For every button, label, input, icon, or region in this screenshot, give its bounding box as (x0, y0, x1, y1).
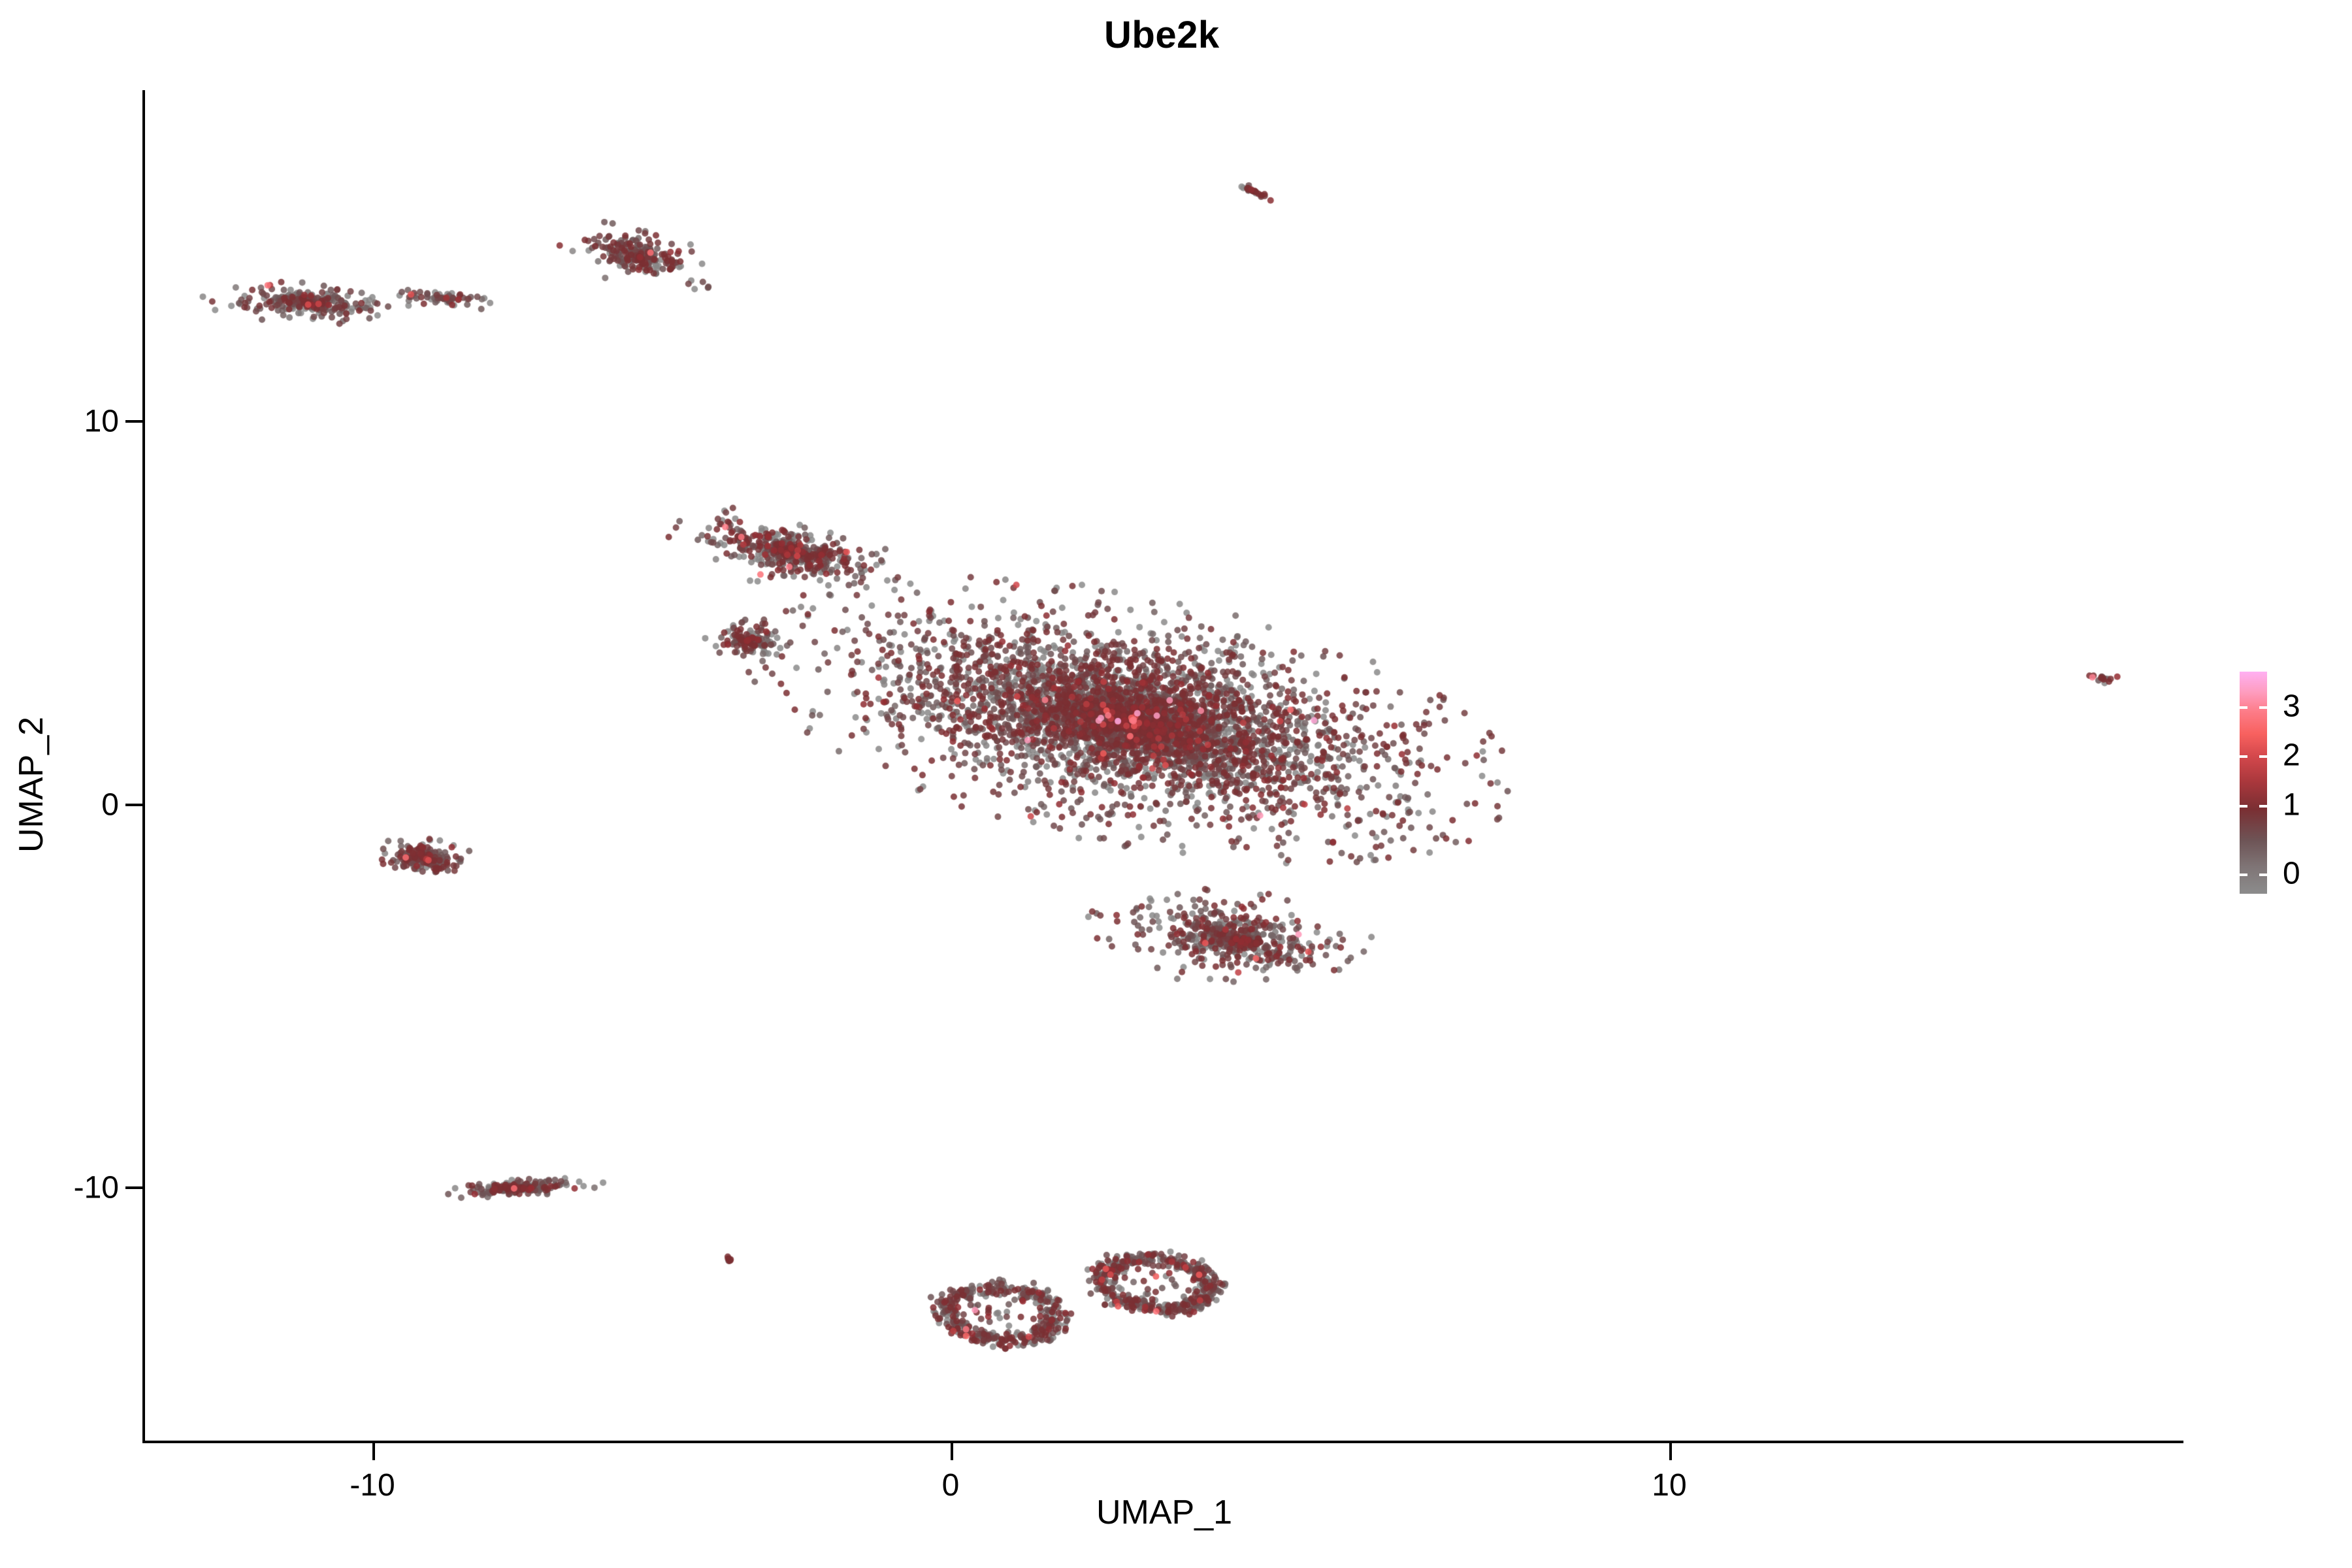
y-tick-mark (125, 420, 142, 423)
y-tick-label: -10 (74, 1170, 119, 1206)
page-title: Ube2k (1104, 13, 1220, 57)
legend-gradient-bar (2240, 672, 2267, 894)
legend-tick-mark (2240, 706, 2247, 709)
plot-panel (145, 90, 2183, 1441)
color-legend: 3210 (2234, 668, 2345, 909)
legend-tick-mark (2259, 874, 2267, 876)
x-tick-mark (951, 1443, 953, 1460)
umap-feature-plot: Ube2k -10010 100-10 UMAP_1 UMAP_2 3210 (0, 0, 2352, 1568)
y-tick-label: 0 (101, 787, 119, 823)
y-tick-mark (125, 804, 142, 806)
legend-tick-mark (2240, 874, 2247, 876)
x-tick-mark (1669, 1443, 1672, 1460)
y-tick-label: 10 (84, 404, 119, 440)
legend-tick-mark (2240, 755, 2247, 758)
legend-tick-mark (2259, 706, 2267, 709)
x-axis-label: UMAP_1 (145, 1493, 2183, 1532)
legend-tick-label: 0 (2283, 856, 2300, 892)
y-tick-mark (125, 1186, 142, 1189)
scatter-canvas (145, 90, 2183, 1441)
legend-tick-mark (2240, 805, 2247, 808)
legend-tick-label: 3 (2283, 688, 2300, 724)
legend-tick-label: 1 (2283, 787, 2300, 823)
legend-tick-label: 2 (2283, 737, 2300, 773)
x-tick-mark (372, 1443, 375, 1460)
legend-tick-mark (2259, 805, 2267, 808)
y-axis-label: UMAP_2 (12, 654, 51, 915)
legend-tick-mark (2259, 755, 2267, 758)
